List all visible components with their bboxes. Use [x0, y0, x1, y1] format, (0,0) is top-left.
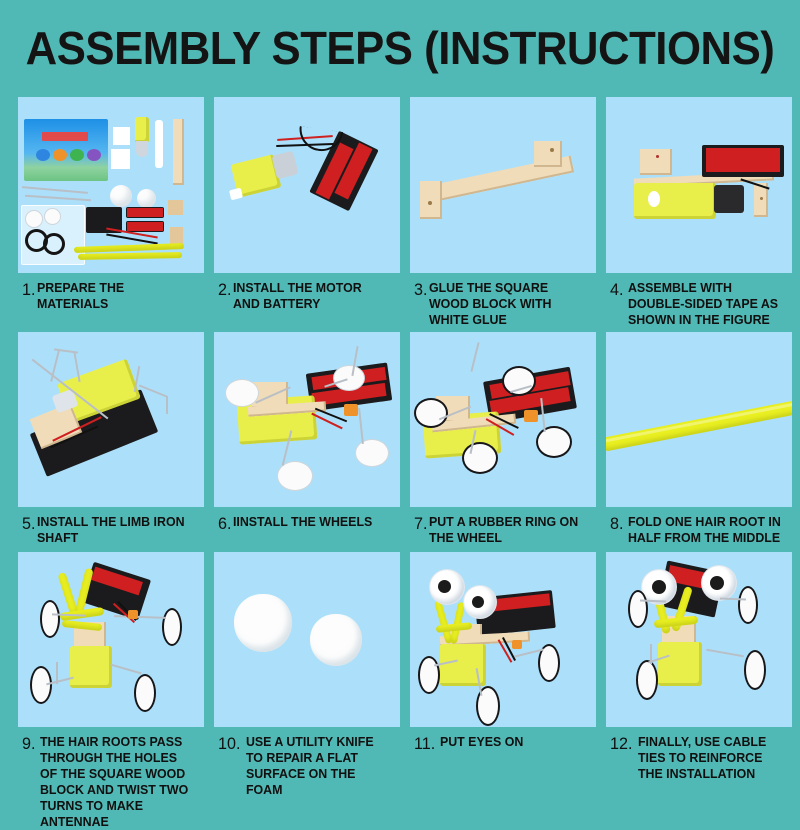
step-card-6[interactable]: 6. IINSTALL THE WHEELS: [214, 332, 400, 546]
step-caption-6: 6. IINSTALL THE WHEELS: [214, 507, 400, 532]
step-caption-2: 2. INSTALL THE MOTOR AND BATTERY: [214, 273, 400, 312]
step-number-5: 5.: [22, 514, 35, 532]
antennae-photo: [18, 552, 204, 727]
step-card-7[interactable]: 7. PUT A RUBBER RING ON THE WHEEL: [410, 332, 596, 546]
step-number-3: 3.: [414, 280, 427, 298]
step-text-2: INSTALL THE MOTOR AND BATTERY: [232, 280, 390, 312]
motor-and-battery-photo: [214, 97, 400, 273]
step-number-1: 1.: [22, 280, 35, 298]
step-caption-7: 7. PUT A RUBBER RING ON THE WHEEL: [410, 507, 596, 546]
foam-balls-photo: [214, 552, 400, 727]
step-caption-10: 10. USE A UTILITY KNIFE TO REPAIR A FLAT…: [214, 727, 400, 798]
step-text-6: IINSTALL THE WHEELS: [232, 514, 390, 530]
step-text-4: ASSEMBLE WITH DOUBLE-SIDED TAPE AS SHOWN…: [627, 280, 782, 328]
step-text-11: PUT EYES ON: [439, 734, 586, 750]
step-number-2: 2.: [218, 280, 231, 298]
limb-iron-shaft-photo: [18, 332, 204, 507]
steps-row-1: 1. PREPARE THE MATERIALS: [18, 97, 784, 328]
step-caption-3: 3. GLUE THE SQUARE WOOD BLOCK WITH WHITE…: [410, 273, 596, 328]
step-card-3[interactable]: 3. GLUE THE SQUARE WOOD BLOCK WITH WHITE…: [410, 97, 596, 328]
kit-contents-photo: [18, 97, 204, 273]
finished-bug-photo: [606, 552, 792, 727]
step-card-8[interactable]: 8. FOLD ONE HAIR ROOT IN HALF FROM THE M…: [606, 332, 792, 546]
step-caption-12: 12. FINALLY, USE CABLE TIES TO REINFORCE…: [606, 727, 792, 782]
page-title: ASSEMBLY STEPS (INSTRUCTIONS): [20, 22, 780, 74]
step-number-4: 4.: [610, 280, 626, 298]
step-card-2[interactable]: 2. INSTALL THE MOTOR AND BATTERY: [214, 97, 400, 328]
step-card-5[interactable]: 5. INSTALL THE LIMB IRON SHAFT: [18, 332, 204, 546]
wheels-installed-photo: [214, 332, 400, 507]
step-card-9[interactable]: 9. THE HAIR ROOTS PASS THROUGH THE HOLES…: [18, 552, 204, 830]
wood-frame-photo: [410, 97, 596, 273]
step-number-7: 7.: [414, 514, 427, 532]
step-text-12: FINALLY, USE CABLE TIES TO REINFORCE THE…: [637, 734, 783, 782]
step-card-11[interactable]: 11. PUT EYES ON: [410, 552, 596, 830]
step-number-10: 10.: [218, 734, 243, 752]
steps-grid: 1. PREPARE THE MATERIALS: [18, 97, 784, 830]
step-card-4[interactable]: 4. ASSEMBLE WITH DOUBLE-SIDED TAPE AS SH…: [606, 97, 792, 328]
step-text-1: PREPARE THE MATERIALS: [36, 280, 194, 312]
step-number-8: 8.: [610, 514, 626, 532]
step-card-10[interactable]: 10. USE A UTILITY KNIFE TO REPAIR A FLAT…: [214, 552, 400, 830]
step-text-8: FOLD ONE HAIR ROOT IN HALF FROM THE MIDD…: [627, 514, 782, 546]
step-caption-9: 9. THE HAIR ROOTS PASS THROUGH THE HOLES…: [18, 727, 204, 830]
step-text-5: INSTALL THE LIMB IRON SHAFT: [36, 514, 194, 546]
step-number-11: 11.: [414, 734, 438, 752]
step-caption-5: 5. INSTALL THE LIMB IRON SHAFT: [18, 507, 204, 546]
step-card-12[interactable]: 12. FINALLY, USE CABLE TIES TO REINFORCE…: [606, 552, 792, 830]
step-number-6: 6.: [218, 514, 231, 532]
step-caption-1: 1. PREPARE THE MATERIALS: [18, 273, 204, 312]
step-text-3: GLUE THE SQUARE WOOD BLOCK WITH WHITE GL…: [428, 280, 586, 328]
step-text-9: THE HAIR ROOTS PASS THROUGH THE HOLES OF…: [39, 734, 194, 830]
step-number-12: 12.: [610, 734, 635, 752]
steps-row-2: 5. INSTALL THE LIMB IRON SHAFT: [18, 332, 784, 546]
poster: ASSEMBLY STEPS (INSTRUCTIONS): [0, 0, 800, 800]
pipe-cleaner-photo: [606, 332, 792, 507]
steps-row-3: 9. THE HAIR ROOTS PASS THROUGH THE HOLES…: [18, 552, 784, 830]
step-caption-4: 4. ASSEMBLE WITH DOUBLE-SIDED TAPE AS SH…: [606, 273, 792, 328]
rubber-rings-photo: [410, 332, 596, 507]
step-text-10: USE A UTILITY KNIFE TO REPAIR A FLAT SUR…: [245, 734, 391, 798]
step-text-7: PUT A RUBBER RING ON THE WHEEL: [428, 514, 586, 546]
chassis-assembly-photo: [606, 97, 792, 273]
step-card-1[interactable]: 1. PREPARE THE MATERIALS: [18, 97, 204, 328]
step-caption-8: 8. FOLD ONE HAIR ROOT IN HALF FROM THE M…: [606, 507, 792, 546]
step-caption-11: 11. PUT EYES ON: [410, 727, 596, 752]
eyes-attached-photo: [410, 552, 596, 727]
step-number-9: 9.: [22, 734, 38, 752]
